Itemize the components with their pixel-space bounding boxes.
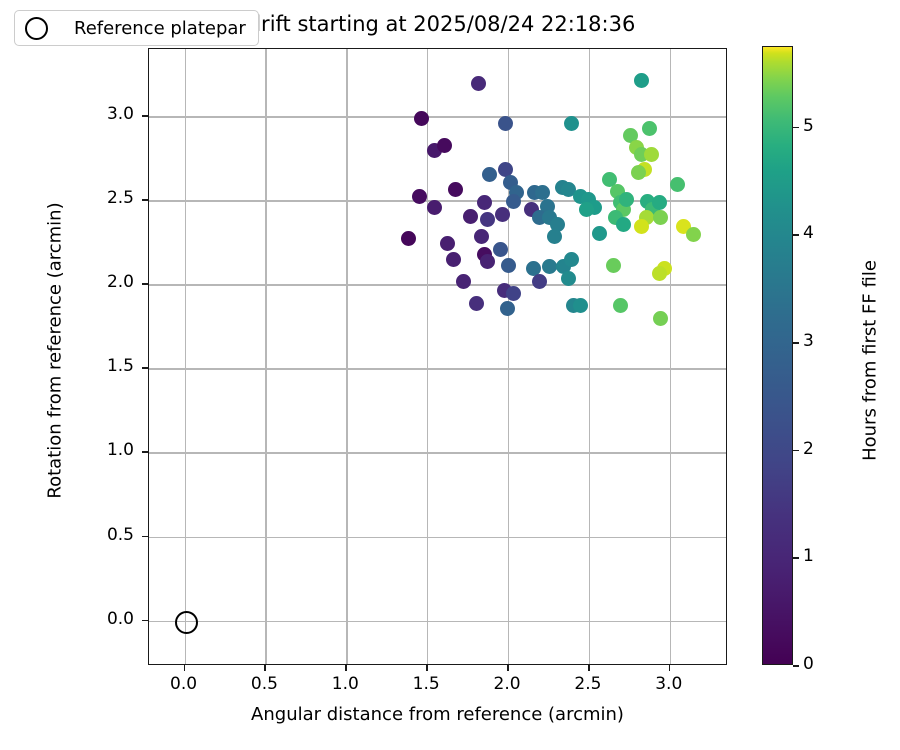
scatter-point bbox=[634, 219, 649, 234]
scatter-point bbox=[616, 217, 631, 232]
legend[interactable]: Reference platepar bbox=[14, 10, 259, 46]
colorbar-tick-label: 0 bbox=[803, 654, 814, 674]
scatter-point bbox=[471, 76, 486, 91]
scatter-point bbox=[482, 167, 497, 182]
scatter-point bbox=[564, 116, 579, 131]
y-axis-tick-label: 1.0 bbox=[62, 440, 134, 460]
x-axis-tick-label: 2.0 bbox=[472, 674, 542, 694]
scatter-point bbox=[561, 271, 576, 286]
colorbar-tick bbox=[793, 342, 799, 344]
colorbar-tick bbox=[793, 127, 799, 129]
scatter-point bbox=[564, 252, 579, 267]
y-axis-tick-label: 0.0 bbox=[62, 609, 134, 629]
scatter-point bbox=[493, 242, 508, 257]
scatter-point bbox=[670, 177, 685, 192]
y-axis-tick bbox=[142, 620, 148, 622]
scatter-point bbox=[498, 116, 513, 131]
colorbar-tick bbox=[793, 234, 799, 236]
scatter-point bbox=[480, 254, 495, 269]
scatter-point bbox=[446, 252, 461, 267]
y-axis-tick bbox=[142, 115, 148, 117]
scatter-point bbox=[440, 236, 455, 251]
scatter-point bbox=[542, 259, 557, 274]
scatter-point bbox=[653, 210, 668, 225]
colorbar-tick-label: 2 bbox=[803, 439, 814, 459]
x-axis-tick-label: 0.0 bbox=[149, 674, 219, 694]
x-axis-tick bbox=[507, 665, 509, 671]
scatter-point bbox=[644, 147, 659, 162]
x-axis-tick-label: 2.5 bbox=[553, 674, 623, 694]
scatter-point bbox=[448, 182, 463, 197]
y-axis-tick bbox=[142, 199, 148, 201]
x-axis-tick-label: 1.5 bbox=[391, 674, 461, 694]
scatter-point bbox=[579, 202, 594, 217]
scatter-point bbox=[652, 266, 667, 281]
scatter-point bbox=[506, 286, 521, 301]
scatter-point bbox=[412, 189, 427, 204]
scatter-point bbox=[456, 274, 471, 289]
scatter-point bbox=[619, 192, 634, 207]
colorbar-tick-label: 3 bbox=[803, 331, 814, 351]
scatter-point bbox=[495, 207, 510, 222]
scatter-point bbox=[401, 231, 416, 246]
colorbar-label: Hours from first FF file bbox=[860, 151, 881, 571]
legend-label-reference-platepar: Reference platepar bbox=[74, 18, 246, 39]
scatter-point bbox=[642, 121, 657, 136]
colorbar-tick bbox=[793, 450, 799, 452]
colorbar-tick-label: 5 bbox=[803, 116, 814, 136]
scatter-point bbox=[506, 194, 521, 209]
scatter-layer bbox=[149, 49, 726, 664]
y-axis-tick-label: 1.5 bbox=[62, 356, 134, 376]
colorbar-tick bbox=[793, 557, 799, 559]
scatter-point bbox=[573, 298, 588, 313]
x-axis-label: Angular distance from reference (arcmin) bbox=[148, 704, 727, 725]
colorbar-tick-label: 4 bbox=[803, 223, 814, 243]
scatter-point bbox=[427, 200, 442, 215]
colorbar-tick-label: 1 bbox=[803, 546, 814, 566]
x-axis-tick-label: 3.0 bbox=[634, 674, 704, 694]
scatter-point bbox=[606, 258, 621, 273]
x-axis-tick-label: 1.0 bbox=[310, 674, 380, 694]
y-axis-tick-label: 2.0 bbox=[62, 272, 134, 292]
scatter-point bbox=[686, 227, 701, 242]
x-axis-tick-label: 0.5 bbox=[229, 674, 299, 694]
scatter-point bbox=[474, 229, 489, 244]
x-axis-tick bbox=[426, 665, 428, 671]
y-axis-tick-label: 3.0 bbox=[62, 104, 134, 124]
scatter-point bbox=[501, 258, 516, 273]
y-axis-tick bbox=[142, 283, 148, 285]
reference-platepar-marker bbox=[175, 611, 198, 634]
scatter-point bbox=[535, 185, 550, 200]
scatter-point bbox=[469, 296, 484, 311]
scatter-point bbox=[653, 311, 668, 326]
y-axis-tick-label: 2.5 bbox=[62, 188, 134, 208]
y-axis-tick-label: 0.5 bbox=[62, 525, 134, 545]
scatter-point bbox=[652, 195, 667, 210]
scatter-point bbox=[500, 301, 515, 316]
scatter-point bbox=[463, 209, 478, 224]
scatter-point bbox=[437, 138, 452, 153]
scatter-point bbox=[631, 165, 646, 180]
x-axis-tick bbox=[588, 665, 590, 671]
legend-marker-reference-platepar bbox=[25, 17, 48, 40]
figure: FOV centre drift starting at 2025/08/24 … bbox=[0, 0, 900, 750]
x-axis-tick bbox=[184, 665, 186, 671]
scatter-point bbox=[414, 111, 429, 126]
scatter-point bbox=[592, 226, 607, 241]
plot-area bbox=[148, 48, 727, 665]
colorbar-tick bbox=[793, 665, 799, 667]
colorbar[interactable] bbox=[762, 46, 793, 665]
x-axis-tick bbox=[345, 665, 347, 671]
y-axis-tick bbox=[142, 367, 148, 369]
x-axis-tick bbox=[669, 665, 671, 671]
y-axis-tick bbox=[142, 451, 148, 453]
scatter-point bbox=[613, 298, 628, 313]
scatter-point bbox=[477, 195, 492, 210]
y-axis-tick bbox=[142, 536, 148, 538]
x-axis-tick bbox=[264, 665, 266, 671]
scatter-point bbox=[480, 212, 495, 227]
scatter-point bbox=[547, 229, 562, 244]
scatter-point bbox=[532, 274, 547, 289]
scatter-point bbox=[634, 73, 649, 88]
